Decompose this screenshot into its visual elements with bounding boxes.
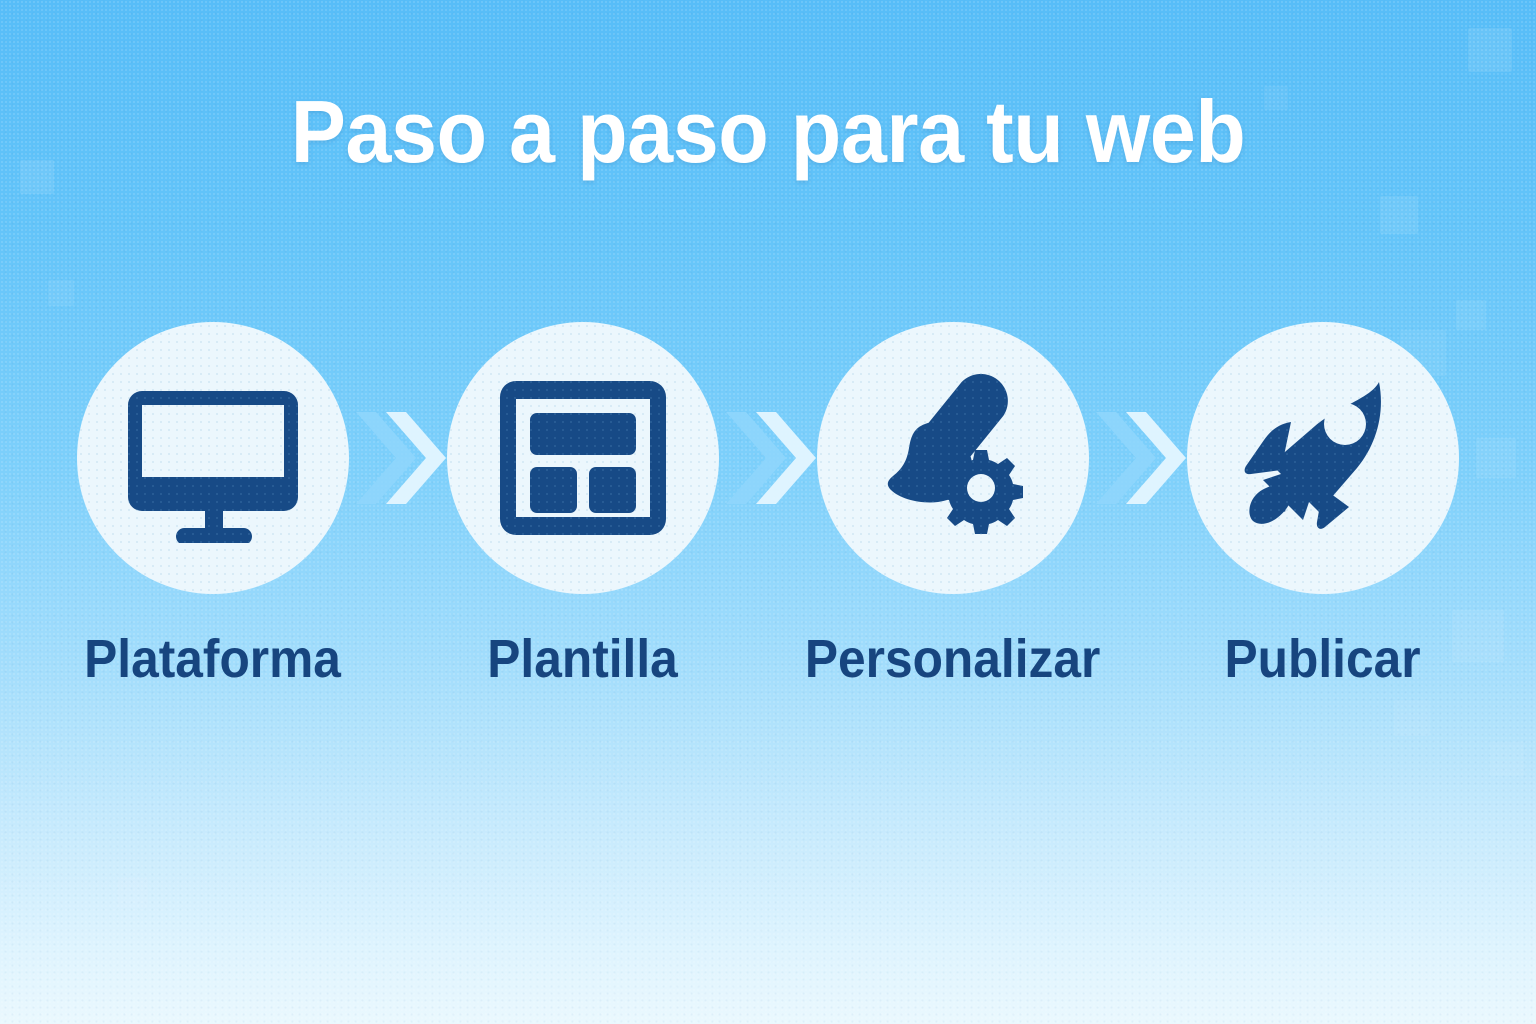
step-template[interactable]: Plantilla <box>446 322 720 686</box>
step-customize[interactable]: Personalizar <box>816 322 1090 686</box>
connector-1 <box>350 322 446 594</box>
paintbrush-gear-icon <box>863 368 1043 548</box>
rocket-icon <box>1233 368 1413 548</box>
connector-2 <box>720 322 816 594</box>
double-chevron-right-icon <box>1090 398 1186 518</box>
step-icon-circle[interactable] <box>447 322 719 594</box>
step-icon-circle[interactable] <box>1187 322 1459 594</box>
step-publish[interactable]: Publicar <box>1186 322 1460 686</box>
step-label: Personalizar <box>805 632 1100 686</box>
step-label: Plantilla <box>488 632 678 686</box>
layout-template-icon <box>498 373 668 543</box>
double-chevron-right-icon <box>720 398 816 518</box>
page-title: Paso a paso para tu web <box>46 88 1490 176</box>
infographic-canvas: Paso a paso para tu web Plataforma <box>0 0 1536 1024</box>
monitor-icon <box>128 373 298 543</box>
step-label: Publicar <box>1225 632 1421 686</box>
step-icon-circle[interactable] <box>817 322 1089 594</box>
connector-3 <box>1090 322 1186 594</box>
step-icon-circle[interactable] <box>77 322 349 594</box>
step-platform[interactable]: Plataforma <box>76 322 350 686</box>
step-label: Plataforma <box>85 632 342 686</box>
double-chevron-right-icon <box>350 398 446 518</box>
step-sequence: Plataforma Plantilla <box>0 322 1536 686</box>
